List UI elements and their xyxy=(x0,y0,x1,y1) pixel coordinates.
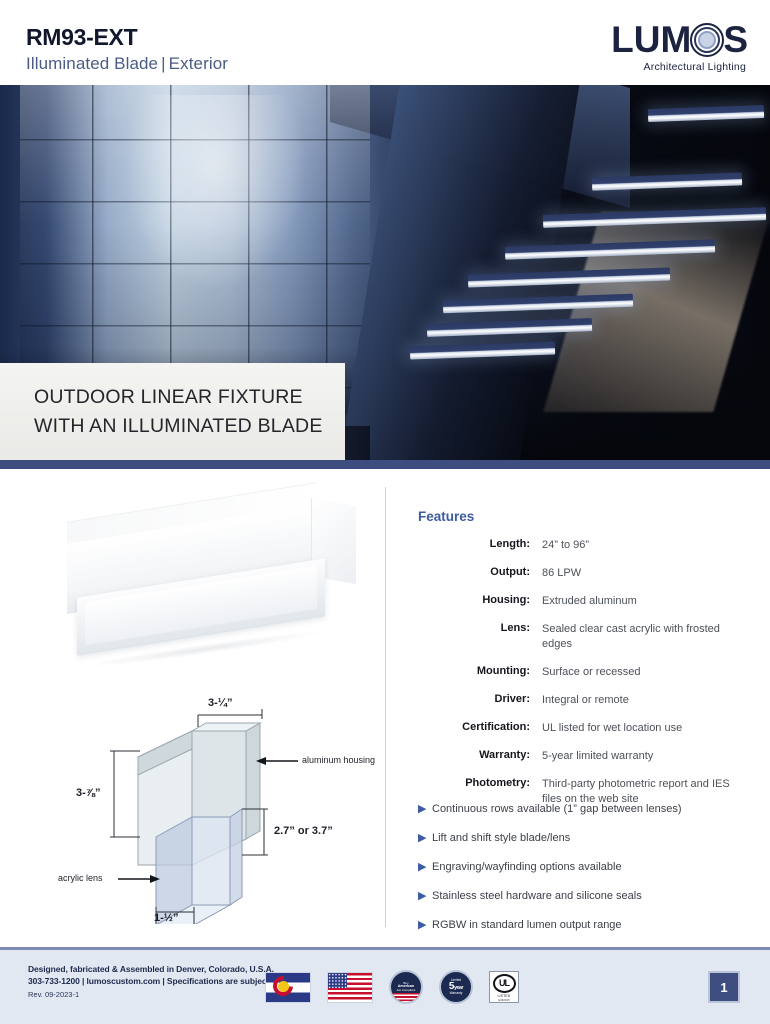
page-title: RM93-EXT xyxy=(26,24,137,51)
ul-mark-icon: UL xyxy=(493,974,516,993)
spec-value: Integral or remote xyxy=(542,693,748,721)
colorado-flag-icon xyxy=(265,972,311,1003)
page-subtitle: Illuminated Blade|Exterior xyxy=(26,54,228,74)
spec-value: Surface or recessed xyxy=(542,665,748,693)
bullet-text: RGBW in standard lumen output range xyxy=(432,918,622,932)
footer-badges: Buy American Act Compliant Limited 5year… xyxy=(265,970,519,1004)
bullet-text: Stainless steel hardware and silicone se… xyxy=(432,889,642,903)
bullet-text: Lift and shift style blade/lens xyxy=(432,831,570,845)
warranty-badge-number: 5year xyxy=(449,982,463,992)
hero-caption-line-1: OUTDOOR LINEAR FIXTURE xyxy=(34,383,345,412)
hero-accent-band xyxy=(0,460,770,469)
spec-row: Mounting: Surface or recessed xyxy=(418,665,748,693)
spec-value: 5-year limited warranty xyxy=(542,749,748,777)
main-content: 3-¼” 3-⅞” 2.7” or 3.7” 1-½” aluminum hou… xyxy=(0,469,770,947)
spec-row: Driver: Integral or remote xyxy=(418,693,748,721)
spec-label: Driver: xyxy=(418,693,542,721)
spec-row: Length: 24” to 96” xyxy=(418,538,748,566)
spec-label: Warranty: xyxy=(418,749,542,777)
spec-table: Length: 24” to 96” Output: 86 LPW Housin… xyxy=(418,538,748,820)
hero-caption: OUTDOOR LINEAR FIXTURE WITH AN ILLUMINAT… xyxy=(0,363,345,460)
spec-value: Sealed clear cast acrylic with frosted e… xyxy=(542,622,748,665)
spec-label: Housing: xyxy=(418,594,542,622)
subtitle-primary: Illuminated Blade xyxy=(26,54,158,73)
spec-row: Lens: Sealed clear cast acrylic with fro… xyxy=(418,622,748,665)
ul-file-number: E482915 xyxy=(498,998,509,1002)
spec-table-body: Length: 24” to 96” Output: 86 LPW Housin… xyxy=(418,538,748,820)
buy-american-badge: Buy American Act Compliant xyxy=(389,970,423,1004)
warranty-badge-line-3: Warranty xyxy=(450,992,463,995)
spec-value: Extruded aluminum xyxy=(542,594,748,622)
callout-aluminum-housing: aluminum housing xyxy=(302,755,375,765)
column-divider xyxy=(385,487,386,927)
spec-value: UL listed for wet location use xyxy=(542,721,748,749)
chevron-right-icon: ▶ xyxy=(418,861,432,874)
logo-text-after: S xyxy=(723,21,748,59)
hero-light-glow xyxy=(120,95,310,295)
spec-label: Mounting: xyxy=(418,665,542,693)
list-item: ▶ Continuous rows available (1” gap betw… xyxy=(418,802,758,816)
chevron-right-icon: ▶ xyxy=(418,890,432,903)
spec-row: Output: 86 LPW xyxy=(418,566,748,594)
buy-american-line-3: Act Compliant xyxy=(397,989,416,992)
list-item: ▶ Lift and shift style blade/lens xyxy=(418,831,758,845)
list-item: ▶ RGBW in standard lumen output range xyxy=(418,918,758,932)
spec-row: Certification: UL listed for wet locatio… xyxy=(418,721,748,749)
spec-row: Housing: Extruded aluminum xyxy=(418,594,748,622)
dimension-blade-label: 2.7” or 3.7” xyxy=(274,825,333,837)
dimension-depth-label: 1-½” xyxy=(154,912,178,924)
logo-text-before: LUM xyxy=(611,21,691,59)
dimension-diagram: 3-¼” 3-⅞” 2.7” or 3.7” 1-½” aluminum hou… xyxy=(70,709,380,924)
features-heading: Features xyxy=(418,509,748,524)
page-header: RM93-EXT Illuminated Blade|Exterior LUM … xyxy=(0,0,770,85)
spec-value: 24” to 96” xyxy=(542,538,748,566)
chevron-right-icon: ▶ xyxy=(418,832,432,845)
logo-ring-icon xyxy=(690,23,724,57)
dimension-height-label: 3-⅞” xyxy=(76,787,100,799)
spec-label: Output: xyxy=(418,566,542,594)
spec-row: Warranty: 5-year limited warranty xyxy=(418,749,748,777)
features-section: Features Length: 24” to 96” Output: 86 L… xyxy=(418,509,748,820)
dimension-width-label: 3-¼” xyxy=(208,697,232,709)
hero-caption-line-2: WITH AN ILLUMINATED BLADE xyxy=(34,412,345,441)
callout-acrylic-lens: acrylic lens xyxy=(58,873,103,883)
logo-tagline: Architectural Lighting xyxy=(573,61,748,73)
spec-label: Certification: xyxy=(418,721,542,749)
page-number-badge: 1 xyxy=(708,971,740,1003)
list-item: ▶ Engraving/wayfinding options available xyxy=(418,860,758,874)
hero-image: OUTDOOR LINEAR FIXTURE WITH AN ILLUMINAT… xyxy=(0,85,770,460)
chevron-right-icon: ▶ xyxy=(418,803,432,816)
ul-listed-badge: UL LISTED E482915 xyxy=(489,971,519,1003)
spec-label: Length: xyxy=(418,538,542,566)
subtitle-secondary: Exterior xyxy=(169,54,228,73)
bullet-text: Engraving/wayfinding options available xyxy=(432,860,622,874)
ul-listed-label: LISTED xyxy=(497,994,510,998)
spec-value: 86 LPW xyxy=(542,566,748,594)
product-photo xyxy=(45,494,365,674)
list-item: ▶ Stainless steel hardware and silicone … xyxy=(418,889,758,903)
usa-flag-icon xyxy=(327,972,373,1003)
subtitle-separator: | xyxy=(158,54,169,73)
logo-mark: LUM S xyxy=(573,20,748,60)
diagram-drawing xyxy=(70,709,380,924)
warranty-badge: Limited 5year Warranty xyxy=(439,970,473,1004)
bullet-text: Continuous rows available (1” gap betwee… xyxy=(432,802,681,816)
spec-label: Lens: xyxy=(418,622,542,665)
chevron-right-icon: ▶ xyxy=(418,919,432,932)
lumos-logo: LUM S Architectural Lighting xyxy=(573,20,748,78)
